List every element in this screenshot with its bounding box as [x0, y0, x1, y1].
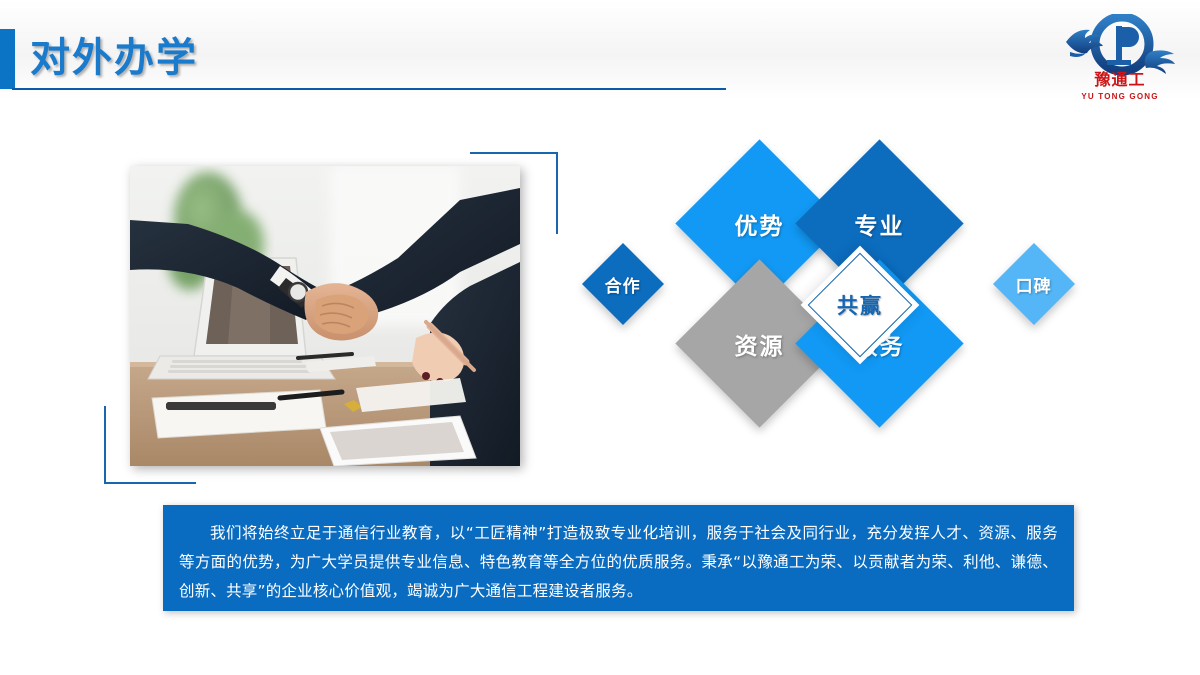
photo-block [130, 166, 520, 466]
diamond-youshi-label: 优势 [735, 207, 785, 241]
description-panel: 我们将始终立足于通信行业教育，以“工匠精神”打造极致专业化培训，服务于社会及同行… [163, 505, 1074, 611]
diamond-hezuo[interactable]: 合作 [582, 243, 664, 325]
logo-pinyin-name: YU TONG GONG [1060, 92, 1180, 102]
page-title: 对外办学 [30, 32, 198, 84]
header: 对外办学 [0, 0, 1200, 110]
handshake-photo [130, 166, 520, 466]
diamond-ziyuan-label: 资源 [735, 327, 785, 361]
win-win-diamond-diagram: 优势 专业 资源 服务 合作 口碑 共赢 [570, 135, 1130, 490]
diamond-koubei[interactable]: 口碑 [993, 243, 1075, 325]
company-logo: 豫通工 YU TONG GONG [1060, 14, 1180, 109]
diamond-center-label: 共赢 [837, 290, 883, 320]
title-accent-bar [0, 29, 15, 89]
diamond-hezuo-label: 合作 [605, 272, 641, 297]
diamond-zhuanye-label: 专业 [855, 207, 905, 241]
description-text: 我们将始终立足于通信行业教育，以“工匠精神”打造极致专业化培训，服务于社会及同行… [179, 519, 1058, 606]
logo-chinese-name: 豫通工 [1060, 72, 1180, 90]
diamond-koubei-label: 口碑 [1016, 272, 1052, 297]
slide-root: 对外办学 [0, 0, 1200, 675]
dragon-logo-icon [1060, 14, 1180, 76]
title-underline [12, 88, 726, 90]
